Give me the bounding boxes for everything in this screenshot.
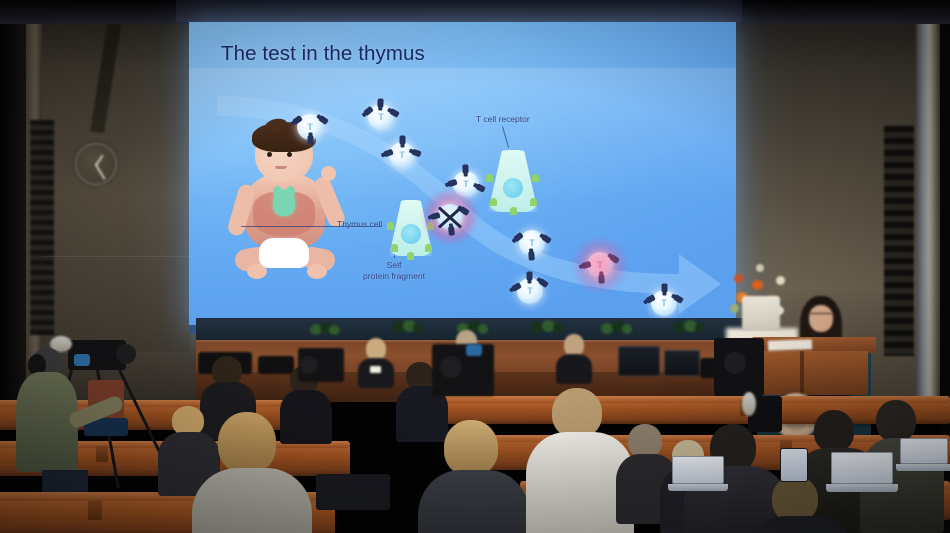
microphone bbox=[742, 392, 756, 416]
bench-cap bbox=[430, 396, 950, 403]
speaker-face bbox=[809, 305, 833, 332]
camera-lens bbox=[724, 352, 746, 374]
wood-slat-panel-right bbox=[884, 126, 914, 356]
t-cell: T bbox=[368, 104, 394, 130]
thymus-gland-highlight bbox=[273, 190, 295, 216]
ceiling-bar bbox=[176, 0, 742, 22]
t-cell-glyph: T bbox=[378, 112, 384, 122]
clock-center-pin bbox=[95, 163, 98, 166]
flower-arrangement bbox=[308, 322, 342, 338]
wall-left-shadow bbox=[0, 0, 26, 400]
baby-illustration bbox=[229, 122, 347, 280]
flower-arrangement bbox=[390, 320, 424, 336]
flower-arrangement bbox=[530, 320, 564, 336]
press-conference-photo: The test in the thymus T ce bbox=[0, 0, 950, 533]
wall-clock bbox=[75, 143, 117, 185]
laptop[interactable] bbox=[896, 438, 950, 472]
flower-arrangement bbox=[600, 321, 634, 337]
label-self-line1: Self bbox=[349, 260, 439, 271]
t-cell: T bbox=[519, 230, 545, 256]
eliminated-t-cell bbox=[437, 204, 463, 230]
pillar-right bbox=[916, 0, 940, 400]
vase bbox=[742, 296, 780, 330]
tablet[interactable] bbox=[780, 448, 808, 482]
camera-lens bbox=[300, 356, 318, 374]
glasses-icon bbox=[810, 313, 832, 317]
clock-minute-hand bbox=[95, 164, 105, 179]
speech-notes bbox=[768, 339, 812, 351]
laptop[interactable] bbox=[668, 456, 726, 492]
wood-slat-panel-left bbox=[30, 120, 54, 335]
wall-seam bbox=[42, 256, 194, 257]
t-cell: T bbox=[389, 142, 415, 168]
t-cell: T bbox=[517, 278, 543, 304]
t-cell: T bbox=[297, 114, 323, 140]
label-self-line2: protein fragment bbox=[349, 271, 439, 282]
label-self-protein-fragment: Self protein fragment bbox=[349, 260, 439, 281]
equipment-bag bbox=[316, 474, 390, 510]
thymus-cell bbox=[488, 150, 538, 212]
label-t-cell-receptor: T cell receptor bbox=[476, 114, 530, 125]
slide-title: The test in the thymus bbox=[221, 42, 425, 66]
podium-body bbox=[762, 351, 868, 395]
projection-screen: The test in the thymus T ce bbox=[189, 22, 736, 334]
monitor bbox=[618, 346, 660, 376]
t-cell-glyph: T bbox=[527, 286, 533, 296]
podium-seam bbox=[800, 351, 804, 395]
t-cell-glyph: T bbox=[661, 298, 667, 308]
camera-lens bbox=[440, 356, 462, 378]
bench-row bbox=[430, 400, 950, 424]
equipment-case bbox=[258, 356, 294, 374]
bench-divider bbox=[88, 500, 102, 520]
t-cell-glyph: T bbox=[399, 150, 405, 160]
camera-viewfinder bbox=[466, 344, 482, 356]
t-cell-glyph: T bbox=[307, 122, 313, 132]
presentation-slide: The test in the thymus T ce bbox=[189, 22, 736, 334]
camera-viewfinder bbox=[74, 354, 90, 366]
laptop[interactable] bbox=[826, 452, 896, 492]
label-thymus-cell: Thymus cell bbox=[337, 219, 382, 230]
camera-lens bbox=[116, 344, 136, 364]
t-cell: T bbox=[651, 290, 677, 316]
t-cell-glyph: T bbox=[529, 238, 535, 248]
monitor bbox=[664, 350, 700, 376]
t-cell-glyph: T bbox=[463, 179, 469, 189]
flower-arrangement bbox=[672, 320, 706, 336]
